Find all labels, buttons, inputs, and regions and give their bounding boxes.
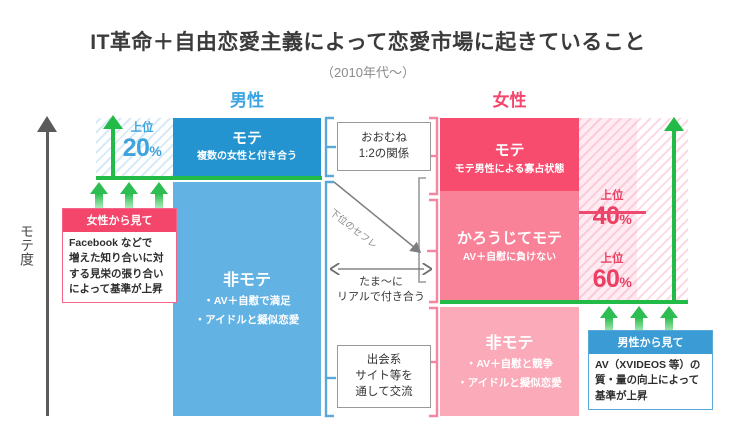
female-perspective-line-3: する見栄の張り合い [69, 267, 171, 282]
male-column-heading: 男性 [173, 86, 321, 111]
page-title: IT革命＋自由恋愛主義によって恋愛市場に起きていること [0, 26, 736, 56]
male-rise-arrow-icon [103, 115, 123, 129]
female-himote-title: 非モテ [440, 329, 579, 353]
female-mote-subtitle: モテ男性による寡占状態 [440, 163, 579, 177]
female-perspective-line-1: Facebook などで [69, 236, 171, 251]
male-perspective-header: 男性から見て [589, 331, 712, 354]
female-rise-arrow-icon [664, 117, 684, 131]
male-perspective-callout[interactable]: 男性から見て AV（XVIDEOS 等）の 質・量の向上によって 基準が上昇 [588, 330, 713, 410]
female-perspective-body: Facebook などで 増えた知り合いに対 する見栄の張り合い によって基準が… [63, 232, 176, 302]
female-perspective-line-4: によって基準が上昇 [69, 282, 171, 297]
female-mote-block[interactable]: モテ モテ男性による寡占状態 [440, 118, 579, 191]
female-rise-arrow-shaft [672, 128, 676, 302]
female-himote-subtitle-2: ・アイドルと擬似恋愛 [440, 376, 579, 391]
male-perspective-line-1: AV（XVIDEOS 等）の [595, 358, 707, 373]
dating-site-line-1: 出会系 [340, 352, 428, 368]
female-perspective-callout[interactable]: 女性から見て Facebook などで 増えた知り合いに対 する見栄の張り合い … [62, 208, 177, 303]
occasional-relation-line-2: リアルで付き合う [330, 290, 432, 305]
male-rise-arrow-shaft [111, 126, 115, 178]
axis-label: モテ度 [8, 224, 34, 266]
occasional-relation-label: たま〜に リアルで付き合う [330, 275, 432, 305]
axis-line [46, 128, 49, 416]
male-threshold-value: 20% [110, 135, 174, 162]
occasional-relation-arrow [330, 262, 432, 276]
dating-site-line-3: 通して交流 [340, 384, 428, 400]
male-mote-subtitle: 複数の女性と付き合う [173, 150, 321, 164]
female-threshold-line [440, 300, 688, 304]
male-perspective-line-2: 質・量の向上によって [595, 373, 707, 388]
female-threshold-40-value: 40% [583, 203, 641, 230]
male-mote-block[interactable]: モテ 複数の女性と付き合う [173, 118, 321, 176]
male-pressure-arrow-icon [120, 182, 138, 210]
female-himote-block[interactable]: 非モテ ・AV＋自慰と競争 ・アイドルと擬似恋愛 [440, 307, 579, 416]
dating-site-line-2: サイト等を [340, 368, 428, 384]
female-mote-title: モテ [440, 139, 579, 160]
occasional-relation-line-1: たま〜に [330, 275, 432, 290]
page-subtitle: （2010年代〜） [0, 62, 736, 81]
male-himote-subtitle-1: ・AV＋自慰で満足 [173, 294, 321, 309]
infographic-canvas: IT革命＋自由恋愛主義によって恋愛市場に起きていること （2010年代〜） 男性… [0, 0, 736, 421]
male-pressure-arrow-icon [150, 182, 168, 210]
male-himote-block[interactable]: 非モテ ・AV＋自慰で満足 ・アイドルと擬似恋愛 [173, 182, 321, 416]
female-threshold-60-label: 上位 60% [583, 253, 641, 292]
male-threshold-line [96, 176, 322, 180]
female-threshold-60-value: 60% [583, 266, 641, 293]
female-perspective-line-2: 増えた知り合いに対 [69, 251, 171, 266]
female-karoujite-title: かろうじてモテ [440, 227, 579, 248]
relationship-ratio-line-2: 1:2の関係 [340, 146, 428, 162]
male-mote-title: モテ [173, 127, 321, 148]
dating-site-box[interactable]: 出会系 サイト等を 通して交流 [337, 345, 431, 408]
female-perspective-header: 女性から見て [63, 209, 176, 232]
relationship-ratio-line-1: おおむね [340, 130, 428, 146]
female-column-heading: 女性 [440, 86, 579, 111]
female-threshold-40-line [579, 211, 646, 214]
male-himote-title: 非モテ [173, 266, 321, 290]
relationship-ratio-box[interactable]: おおむね 1:2の関係 [337, 122, 431, 171]
male-perspective-line-3: 基準が上昇 [595, 389, 707, 404]
male-himote-subtitle-2: ・アイドルと擬似恋愛 [173, 313, 321, 328]
male-pressure-arrow-icon [90, 182, 108, 210]
female-karoujite-block[interactable]: かろうじてモテ AV＋自慰に負けない [440, 191, 579, 301]
male-perspective-body: AV（XVIDEOS 等）の 質・量の向上によって 基準が上昇 [589, 354, 712, 409]
female-threshold-40-label: 上位 40% [583, 190, 641, 229]
female-himote-subtitle-1: ・AV＋自慰と競争 [440, 357, 579, 372]
female-karoujite-subtitle: AV＋自慰に負けない [440, 251, 579, 265]
